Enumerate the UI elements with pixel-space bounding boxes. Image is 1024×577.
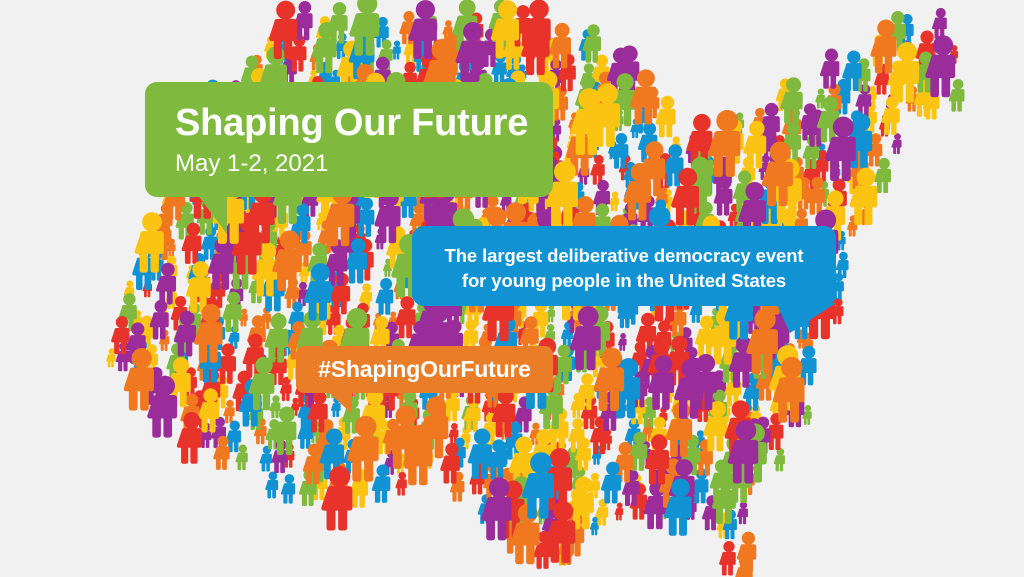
page-title: Shaping Our Future — [175, 101, 553, 145]
bubble-green-tail — [179, 194, 227, 234]
bubble-orange-text: #ShapingOurFuture — [296, 346, 553, 383]
tagline-line-2: for young people in the United States — [412, 268, 836, 293]
bubble-blue-text: The largest deliberative democracy event… — [412, 226, 836, 293]
tagline-line-1: The largest deliberative democracy event — [412, 243, 836, 268]
bubble-title-green: Shaping Our Future May 1-2, 2021 — [145, 82, 553, 197]
bubble-blue-tail — [776, 303, 836, 333]
poster-canvas: Shaping Our Future May 1-2, 2021 The lar… — [0, 0, 1024, 577]
bubble-hashtag-orange: #ShapingOurFuture — [296, 346, 553, 393]
hashtag-label: #ShapingOurFuture — [318, 356, 531, 382]
event-date: May 1-2, 2021 — [175, 148, 553, 180]
bubble-green-text: Shaping Our Future May 1-2, 2021 — [145, 82, 553, 180]
bubble-tagline-blue: The largest deliberative democracy event… — [412, 226, 836, 306]
bubble-orange-tail — [316, 390, 352, 414]
